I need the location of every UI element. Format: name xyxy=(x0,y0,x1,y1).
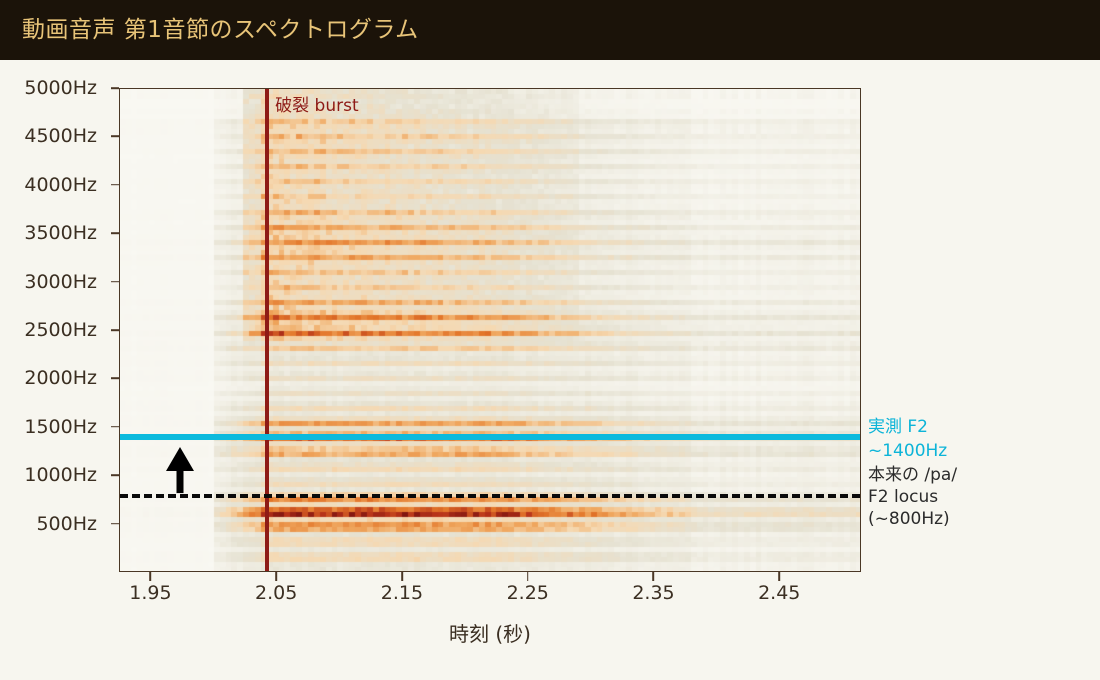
x-tick-label: 2.05 xyxy=(255,582,297,604)
y-tick-label: 2000Hz xyxy=(24,367,97,389)
y-tick-label: 4500Hz xyxy=(24,125,97,147)
y-tick-mark xyxy=(111,523,119,525)
annotation-measured-f2-label: 実測 F2 xyxy=(868,415,928,439)
y-tick-label: 500Hz xyxy=(36,513,97,535)
y-tick-mark xyxy=(111,378,119,380)
annotation-locus-line3: (~800Hz) xyxy=(868,507,950,531)
x-tick-mark xyxy=(150,572,152,581)
f2-measured-hline xyxy=(120,434,860,440)
page-title: 動画音声 第1音節のスペクトログラム xyxy=(22,0,419,60)
y-tick-label: 1500Hz xyxy=(24,416,97,438)
plot-area[interactable]: 破裂 burst xyxy=(119,88,861,572)
annotation-measured-f2-value: ~1400Hz xyxy=(868,439,947,463)
y-tick-label: 2500Hz xyxy=(24,319,97,341)
header-bar: 動画音声 第1音節のスペクトログラム xyxy=(0,0,1100,60)
y-axis: 500Hz1000Hz1500Hz2000Hz2500Hz3000Hz3500H… xyxy=(0,60,111,680)
x-tick-label: 2.35 xyxy=(632,582,674,604)
x-tick-mark xyxy=(401,572,403,581)
y-tick-label: 3000Hz xyxy=(24,271,97,293)
x-tick-mark xyxy=(653,572,655,581)
x-tick-mark xyxy=(275,572,277,581)
y-tick-label: 5000Hz xyxy=(24,77,97,99)
y-tick-mark xyxy=(111,426,119,428)
y-tick-mark xyxy=(111,281,119,283)
y-tick-label: 1000Hz xyxy=(24,464,97,486)
y-tick-label: 3500Hz xyxy=(24,222,97,244)
y-tick-mark xyxy=(111,87,119,89)
annotation-locus-line2: F2 locus xyxy=(868,485,938,509)
burst-vline xyxy=(265,89,269,571)
f2-locus-hline xyxy=(120,494,860,498)
x-tick-label: 2.45 xyxy=(758,582,800,604)
y-tick-mark xyxy=(111,136,119,138)
spectrogram-figure: 破裂 burst 500Hz1000Hz1500Hz2000Hz2500Hz30… xyxy=(0,60,1100,680)
x-tick-label: 2.15 xyxy=(381,582,423,604)
spectrogram-heatmap xyxy=(120,89,861,572)
x-tick-mark xyxy=(527,572,529,581)
y-tick-mark xyxy=(111,329,119,331)
y-tick-mark xyxy=(111,232,119,234)
x-tick-label: 2.25 xyxy=(507,582,549,604)
annotation-locus-line1: 本来の /pa/ xyxy=(868,463,957,487)
x-axis-title: 時刻 (秒) xyxy=(0,618,980,647)
y-tick-label: 4000Hz xyxy=(24,174,97,196)
y-tick-mark xyxy=(111,474,119,476)
x-tick-label: 1.95 xyxy=(129,582,171,604)
y-tick-mark xyxy=(111,184,119,186)
f2-shift-arrow xyxy=(160,445,200,495)
x-tick-mark xyxy=(778,572,780,581)
burst-label: 破裂 burst xyxy=(275,91,358,116)
